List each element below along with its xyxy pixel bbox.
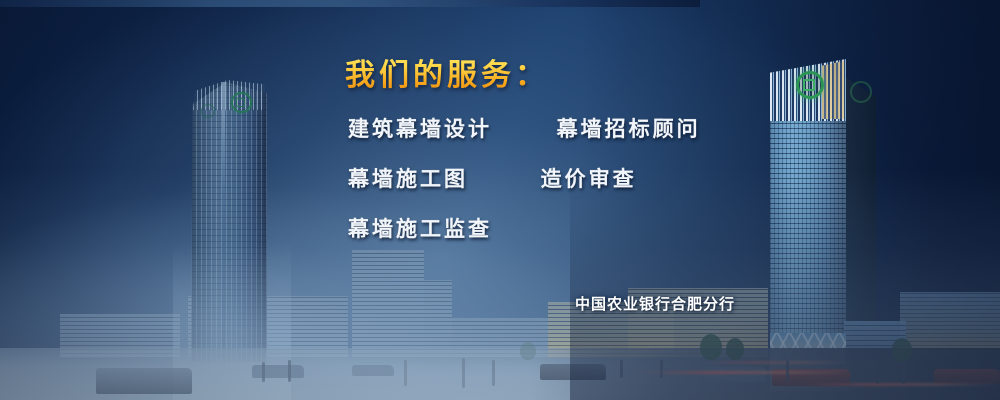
abc-bank-logo-icon (850, 81, 872, 103)
service-item-curtain-wall-design: 建筑幕墙设计 (348, 117, 492, 141)
service-banner: 我们的服务： 建筑幕墙设计 幕墙招标顾问 幕墙施工图 造价审查 幕墙施工监查 中… (0, 0, 1000, 400)
tree (520, 342, 536, 360)
abc-bank-logo-icon (201, 104, 215, 118)
service-item-tender-consulting: 幕墙招标顾问 (557, 113, 701, 143)
tree (726, 338, 744, 360)
pedestrian (620, 360, 623, 378)
pedestrian (876, 360, 879, 384)
pedestrian (462, 358, 465, 388)
pedestrian (786, 360, 789, 382)
pedestrian (262, 362, 265, 382)
project-caption: 中国农业银行合肥分行 (575, 293, 735, 314)
service-item-cost-review: 造价审查 (541, 163, 637, 193)
tree (700, 334, 722, 360)
pedestrian (288, 360, 291, 382)
pedestrian (902, 360, 905, 384)
car (934, 369, 1000, 384)
service-item-construction-supervision: 幕墙施工监查 (348, 217, 492, 241)
pedestrian (404, 360, 407, 386)
vehicle-light-trail (640, 371, 850, 374)
vehicle-light-trail (700, 361, 850, 364)
abc-bank-logo-icon (796, 71, 824, 99)
vehicle-light-trail (800, 383, 1000, 386)
abc-bank-logo-icon (231, 92, 252, 113)
service-row: 幕墙施工监查 (348, 213, 492, 243)
pedestrian (492, 360, 495, 386)
car (540, 364, 606, 380)
car (96, 368, 192, 394)
service-row: 建筑幕墙设计 幕墙招标顾问 (348, 113, 701, 143)
pedestrian (660, 360, 663, 378)
service-item-construction-drawing: 幕墙施工图 (348, 167, 468, 191)
car (252, 365, 304, 378)
services-headline: 我们的服务： (345, 50, 549, 94)
ground-details (0, 250, 1000, 400)
service-row: 幕墙施工图 造价审查 (348, 163, 637, 193)
car (352, 365, 394, 376)
tree (892, 338, 912, 362)
car (704, 367, 766, 382)
